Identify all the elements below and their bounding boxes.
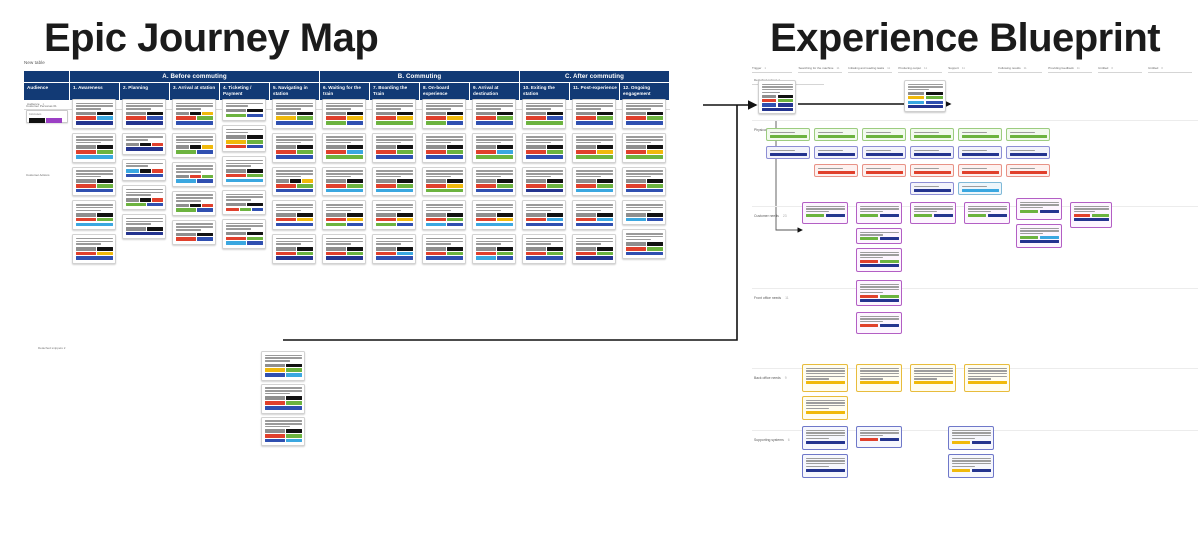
journey-card-text xyxy=(226,194,263,201)
stage-header-11[interactable]: 11. Post-experience xyxy=(570,82,620,100)
bar-blue xyxy=(447,223,463,227)
bar-black xyxy=(778,95,793,98)
bar-green xyxy=(860,237,879,240)
journey-map-table[interactable]: New table A. Before commutingB. Commutin… xyxy=(24,60,702,370)
journey-card[interactable] xyxy=(522,234,566,264)
journey-card[interactable] xyxy=(422,234,466,264)
journey-column-6[interactable] xyxy=(320,99,370,268)
bar-green xyxy=(397,150,413,154)
blueprint-customer-need-card[interactable] xyxy=(856,248,902,272)
bar-red xyxy=(626,247,646,251)
blueprint-column-header-5[interactable]: Following results11 xyxy=(998,66,1042,73)
blueprint-touchpoint-card[interactable] xyxy=(910,164,954,177)
journey-column-11[interactable] xyxy=(570,99,620,268)
bar-red xyxy=(276,184,296,188)
journey-column-2[interactable] xyxy=(120,99,170,268)
bar-green xyxy=(326,121,346,125)
bar-grey xyxy=(626,179,646,183)
bar-blue xyxy=(526,155,563,159)
journey-card-bars xyxy=(576,112,613,125)
bar-red xyxy=(226,145,246,149)
bar-red xyxy=(76,184,96,188)
journey-card[interactable] xyxy=(622,99,666,129)
journey-card-bars xyxy=(576,247,613,260)
blueprint-front-office-card[interactable] xyxy=(856,280,902,306)
journey-card-bars xyxy=(326,179,363,192)
bar-blue xyxy=(247,145,263,149)
bar-red xyxy=(190,175,201,179)
journey-card[interactable] xyxy=(522,133,566,163)
bar-grey xyxy=(265,364,285,368)
bar-blue xyxy=(647,218,663,222)
journey-card[interactable] xyxy=(172,220,216,245)
blueprint-row-label-1[interactable]: Customer needs23 xyxy=(754,214,787,218)
blueprint-touchpoint-card[interactable] xyxy=(958,146,1002,159)
journey-card-text xyxy=(326,204,363,211)
bar-red xyxy=(76,218,96,222)
bar-grey xyxy=(626,242,646,246)
stage-header-9[interactable]: 9. Arrival at destination xyxy=(470,82,520,100)
bar-yellow xyxy=(265,368,285,372)
journey-column-12[interactable] xyxy=(620,99,670,268)
journey-card[interactable] xyxy=(572,167,616,197)
journey-card[interactable] xyxy=(572,99,616,129)
bar-blue xyxy=(76,256,113,260)
blueprint-supporting-system-card[interactable] xyxy=(948,454,994,478)
journey-card-text xyxy=(476,170,513,177)
bar-red xyxy=(860,260,879,263)
blueprint-touchpoint-card[interactable] xyxy=(910,128,954,141)
bar-grey xyxy=(626,145,646,149)
bar-green xyxy=(326,155,363,159)
bar-green xyxy=(97,150,113,154)
journey-card[interactable] xyxy=(122,214,166,239)
journey-card[interactable] xyxy=(222,190,266,215)
blueprint-column-header-7[interactable]: Untitled0 xyxy=(1098,66,1142,73)
journey-card[interactable] xyxy=(122,133,166,155)
journey-card-text xyxy=(126,136,163,140)
bar-black xyxy=(190,204,201,208)
journey-card[interactable] xyxy=(272,99,316,129)
journey-card[interactable] xyxy=(372,200,416,230)
bar-black xyxy=(447,145,463,149)
stage-header-5[interactable]: 5. Navigating in station xyxy=(270,82,320,100)
blueprint-touchpoint-card[interactable] xyxy=(814,164,858,177)
journey-card-bars xyxy=(376,112,413,125)
blueprint-column-header-2[interactable]: Initiating and reading tasks11 xyxy=(848,66,892,73)
blueprint-back-office-card[interactable] xyxy=(910,364,956,392)
journey-card-bars xyxy=(226,203,263,211)
blueprint-supporting-system-card[interactable] xyxy=(948,426,994,450)
blueprint-customer-need-card[interactable] xyxy=(856,202,902,224)
blueprint-touchpoint-card[interactable] xyxy=(766,146,810,159)
journey-card[interactable] xyxy=(172,162,216,187)
blueprint-back-office-card-text xyxy=(860,368,899,380)
blueprint-touchpoint-card[interactable] xyxy=(958,182,1002,195)
blueprint-customer-need-card-text xyxy=(1074,206,1109,213)
blueprint-back-office-card[interactable] xyxy=(856,364,902,392)
journey-card[interactable] xyxy=(172,133,216,158)
bar-blue xyxy=(197,179,213,183)
journey-card[interactable] xyxy=(72,133,116,163)
bar-green xyxy=(97,218,113,222)
journey-card-bars xyxy=(526,179,563,192)
bar-dark_blue xyxy=(860,299,899,302)
bar-grey xyxy=(376,145,396,149)
bar-black xyxy=(447,213,463,217)
bar-light_blue xyxy=(597,218,613,222)
blueprint-row-label-2[interactable]: Front office needs11 xyxy=(754,296,789,300)
detached-card-cluster[interactable] xyxy=(261,351,307,449)
detached-card-bars xyxy=(265,396,302,409)
stage-header-0[interactable]: Audience xyxy=(24,82,70,100)
journey-card-text xyxy=(126,163,163,167)
bar-red xyxy=(576,116,596,120)
bar-grey xyxy=(276,112,296,116)
journey-card[interactable] xyxy=(422,200,466,230)
detached-card-text xyxy=(265,387,302,394)
bar-yellow xyxy=(908,96,925,99)
bar-yellow xyxy=(97,252,113,256)
bar-black xyxy=(397,179,413,183)
blueprint-customer-need-card-bars xyxy=(860,214,899,217)
blueprint-touchpoint-card[interactable] xyxy=(958,128,1002,141)
journey-card[interactable] xyxy=(472,167,516,197)
blueprint-touchpoint-card[interactable] xyxy=(862,164,906,177)
journey-card-text xyxy=(576,103,613,110)
stage-header-7[interactable]: 7. Boarding the Train xyxy=(370,82,420,100)
blueprint-touchpoint-card[interactable] xyxy=(1006,164,1050,177)
stage-header-8[interactable]: 8. On-board experience xyxy=(420,82,470,100)
blueprint-touchpoint-card[interactable] xyxy=(814,128,858,141)
journey-card[interactable] xyxy=(372,167,416,197)
blueprint-supporting-system-card[interactable] xyxy=(856,426,902,448)
detached-card[interactable] xyxy=(261,351,305,381)
journey-card-text xyxy=(576,238,613,245)
bar-dark_blue xyxy=(826,214,845,217)
bar-dark_blue xyxy=(576,256,613,260)
journey-card[interactable] xyxy=(122,185,166,210)
journey-card[interactable] xyxy=(572,234,616,264)
bar-yellow xyxy=(952,469,971,472)
bar-blue xyxy=(76,189,113,193)
bar-green xyxy=(247,237,263,241)
bar-blue xyxy=(197,150,213,154)
bar-red xyxy=(152,169,163,173)
journey-card[interactable] xyxy=(622,133,666,163)
bar-green xyxy=(860,214,879,217)
bar-blue xyxy=(276,121,313,125)
journey-card-text xyxy=(626,204,663,211)
stage-header-6[interactable]: 6. Waiting for the train xyxy=(320,82,370,100)
journey-column-4[interactable] xyxy=(220,99,270,268)
bar-green xyxy=(426,121,446,125)
journey-card[interactable] xyxy=(572,133,616,163)
journey-card[interactable] xyxy=(622,200,666,225)
journey-card[interactable] xyxy=(522,99,566,129)
journey-column-10[interactable] xyxy=(520,99,570,268)
bar-light_blue xyxy=(576,189,613,193)
bar-light_blue xyxy=(76,223,113,227)
blueprint-row-rule-0 xyxy=(752,120,1198,121)
bar-blue xyxy=(197,237,213,241)
blueprint-touchpoint-card[interactable] xyxy=(862,146,906,159)
stage-header-3[interactable]: 3. Arrival at station xyxy=(170,82,220,100)
blueprint-row-label-4[interactable]: Supporting systems6 xyxy=(754,438,790,442)
journey-card[interactable] xyxy=(372,234,416,264)
bar-green xyxy=(770,135,807,138)
bar-blue xyxy=(126,174,163,178)
journey-card[interactable] xyxy=(372,99,416,129)
bar-red xyxy=(265,434,285,438)
journey-card[interactable] xyxy=(272,200,316,230)
stage-header-row: Audience1. Awareness2. Planning3. Arriva… xyxy=(24,82,702,100)
bar-black xyxy=(647,242,663,246)
bar-grey xyxy=(576,247,596,251)
journey-card[interactable] xyxy=(322,133,366,163)
bar-green xyxy=(202,175,213,179)
journey-card[interactable] xyxy=(272,133,316,163)
bar-blue xyxy=(476,121,513,125)
stage-header-1[interactable]: 1. Awareness xyxy=(70,82,120,100)
blueprint-customer-need-card[interactable] xyxy=(1016,198,1062,220)
bar-dark_blue xyxy=(860,264,899,267)
journey-card[interactable] xyxy=(272,167,316,197)
journey-card[interactable] xyxy=(122,99,166,129)
phase-header-2: B. Commuting xyxy=(320,71,520,82)
journey-card[interactable] xyxy=(72,99,116,129)
bar-black xyxy=(347,179,363,183)
blueprint-column-header-4[interactable]: Support11 xyxy=(948,66,992,73)
bar-grey xyxy=(526,179,546,183)
blueprint-touchpoint-card[interactable] xyxy=(958,164,1002,177)
bar-dark_blue xyxy=(880,237,899,240)
blueprint-column-header-0[interactable]: Trigger1 xyxy=(752,66,792,73)
bar-grey xyxy=(326,213,346,217)
bar-black xyxy=(140,198,151,202)
stage-header-2[interactable]: 2. Planning xyxy=(120,82,170,100)
journey-card[interactable] xyxy=(222,156,266,186)
stage-header-10[interactable]: 10. Exiting the station xyxy=(520,82,570,100)
blueprint-column-header-3[interactable]: Producing output11 xyxy=(898,66,942,73)
journey-card[interactable] xyxy=(522,200,566,230)
blueprint-front-office-card-bars xyxy=(860,295,899,303)
journey-card[interactable] xyxy=(572,200,616,230)
bar-grey xyxy=(276,145,296,149)
blueprint-touchpoint-card[interactable] xyxy=(1006,128,1050,141)
journey-card[interactable] xyxy=(472,133,516,163)
bar-grey xyxy=(76,247,96,251)
blueprint-customer-need-card[interactable] xyxy=(964,202,1010,224)
bar-blue xyxy=(626,252,663,256)
journey-card[interactable] xyxy=(72,200,116,230)
bar-dark_blue xyxy=(818,153,855,156)
bar-black xyxy=(97,247,113,251)
journey-card[interactable] xyxy=(222,99,266,121)
bar-light_blue xyxy=(326,189,363,193)
bar-red xyxy=(762,99,777,102)
blueprint-column-header-8[interactable]: Untitled0 xyxy=(1148,66,1192,73)
journey-column-9[interactable] xyxy=(470,99,520,268)
journey-card-bars xyxy=(176,145,213,153)
stage-header-4[interactable]: 4. Ticketing / Payment xyxy=(220,82,270,100)
journey-card[interactable] xyxy=(222,125,266,152)
journey-card[interactable] xyxy=(422,167,466,197)
blueprint-customer-need-card[interactable] xyxy=(1016,224,1062,248)
blueprint-front-office-card[interactable] xyxy=(856,312,902,334)
blueprint-trigger-card[interactable] xyxy=(904,80,946,112)
blueprint-touchpoint-card[interactable] xyxy=(910,146,954,159)
journey-card-text xyxy=(626,103,663,110)
detached-card[interactable] xyxy=(261,384,305,414)
bar-light_blue xyxy=(1040,236,1059,239)
bar-yellow xyxy=(347,116,363,120)
bar-grey xyxy=(762,95,777,98)
journey-card[interactable] xyxy=(622,167,666,197)
journey-card[interactable] xyxy=(272,234,316,264)
bar-yellow xyxy=(297,218,313,222)
blueprint-touchpoint-card[interactable] xyxy=(1006,146,1050,159)
bar-dark_blue xyxy=(1074,218,1109,221)
journey-card-text xyxy=(76,136,113,143)
bar-grey xyxy=(265,429,285,433)
journey-column-8[interactable] xyxy=(420,99,470,268)
journey-card[interactable] xyxy=(472,99,516,129)
journey-column-7[interactable] xyxy=(370,99,420,268)
journey-card[interactable] xyxy=(372,133,416,163)
journey-card-text xyxy=(326,136,363,143)
bar-black xyxy=(347,112,363,116)
journey-card[interactable] xyxy=(522,167,566,197)
bar-grey xyxy=(176,175,190,179)
journey-column-1[interactable] xyxy=(70,99,120,268)
journey-card-columns[interactable] xyxy=(24,99,702,268)
blueprint-touchpoint-card[interactable] xyxy=(910,182,954,195)
journey-card-bars xyxy=(276,179,313,192)
journey-card-bars xyxy=(276,247,313,260)
blueprint-column-header-6[interactable]: Providing feedback11 xyxy=(1048,66,1092,73)
blueprint-trigger-card[interactable] xyxy=(758,80,796,114)
journey-card-bars xyxy=(476,145,513,158)
journey-column-3[interactable] xyxy=(170,99,220,268)
journey-card-bars xyxy=(126,112,163,125)
bar-dark_blue xyxy=(914,153,951,156)
journey-card[interactable] xyxy=(622,229,666,259)
bar-light_blue xyxy=(376,189,413,193)
bar-grey xyxy=(76,213,96,217)
journey-card[interactable] xyxy=(322,200,366,230)
bar-green xyxy=(647,184,663,188)
journey-card[interactable] xyxy=(122,159,166,181)
journey-card-bars xyxy=(526,247,563,260)
bar-red xyxy=(326,184,346,188)
bar-black xyxy=(97,179,113,183)
blueprint-touchpoint-card[interactable] xyxy=(814,146,858,159)
journey-card-text xyxy=(126,218,163,225)
blueprint-column-header-1[interactable]: Searching for the machine11 xyxy=(798,66,842,73)
blueprint-touchpoint-card[interactable] xyxy=(766,128,810,141)
bar-grey xyxy=(326,247,346,251)
journey-card[interactable] xyxy=(422,133,466,163)
blueprint-row-label-3[interactable]: Back office needs9 xyxy=(754,376,787,380)
blueprint-back-office-card[interactable] xyxy=(802,396,848,420)
journey-card[interactable] xyxy=(322,234,366,264)
journey-card-bars xyxy=(576,179,613,192)
blueprint-customer-need-card[interactable] xyxy=(856,228,902,244)
blueprint-touchpoint-card[interactable] xyxy=(862,128,906,141)
journey-card-bars xyxy=(426,247,463,260)
bar-grey xyxy=(226,169,246,173)
journey-card[interactable] xyxy=(72,234,116,264)
journey-card[interactable] xyxy=(172,191,216,216)
bar-blue xyxy=(476,189,513,193)
journey-card[interactable] xyxy=(322,167,366,197)
journey-card-bars xyxy=(476,112,513,125)
blueprint-customer-need-card-text xyxy=(806,206,845,213)
bar-red xyxy=(426,116,446,120)
blueprint-back-office-card[interactable] xyxy=(802,364,848,392)
bar-grey xyxy=(426,247,446,251)
bar-grey xyxy=(476,145,496,149)
experience-blueprint-canvas[interactable]: Trigger1Searching for the machine11Initi… xyxy=(752,66,1198,496)
journey-card-bars xyxy=(276,145,313,158)
blueprint-customer-need-card[interactable] xyxy=(910,202,956,224)
journey-card[interactable] xyxy=(322,99,366,129)
journey-card[interactable] xyxy=(472,234,516,264)
blueprint-supporting-system-card[interactable] xyxy=(802,426,848,450)
bar-blue xyxy=(252,208,263,212)
bar-grey xyxy=(76,145,96,149)
bar-light_blue xyxy=(286,373,302,377)
journey-map-title: Epic Journey Map xyxy=(44,16,378,61)
bar-blue xyxy=(276,155,313,159)
blueprint-customer-need-card[interactable] xyxy=(802,202,848,224)
blueprint-customer-need-card[interactable] xyxy=(1070,202,1112,228)
bar-grey xyxy=(576,112,596,116)
journey-card-bars xyxy=(276,213,313,226)
bar-green xyxy=(597,116,613,120)
journey-card-bars xyxy=(176,233,213,241)
stage-header-12[interactable]: 12. Ongoing engagement xyxy=(620,82,670,100)
detached-card[interactable] xyxy=(261,417,305,447)
journey-card-text xyxy=(176,103,213,110)
journey-card-text xyxy=(626,233,663,240)
bar-grey xyxy=(226,203,246,207)
journey-card[interactable] xyxy=(472,200,516,230)
journey-card[interactable] xyxy=(222,219,266,249)
bar-green xyxy=(447,218,463,222)
journey-card[interactable] xyxy=(422,99,466,129)
blueprint-supporting-system-card[interactable] xyxy=(802,454,848,478)
journey-card-text xyxy=(626,170,663,177)
journey-card[interactable] xyxy=(172,99,216,129)
blueprint-back-office-card[interactable] xyxy=(964,364,1010,392)
bar-blue xyxy=(265,439,285,443)
journey-card-bars xyxy=(176,175,213,183)
bar-green xyxy=(1020,236,1039,239)
journey-card[interactable] xyxy=(72,167,116,197)
bar-dark_blue xyxy=(126,232,163,236)
bar-dark_blue xyxy=(762,108,793,111)
bar-light_blue xyxy=(547,218,563,222)
bar-light_blue xyxy=(397,252,413,256)
bar-red xyxy=(576,252,596,256)
bar-black xyxy=(647,213,663,217)
bar-yellow xyxy=(276,116,296,120)
detached-card-text xyxy=(265,355,302,362)
journey-column-5[interactable] xyxy=(270,99,320,268)
bar-black xyxy=(497,179,513,183)
